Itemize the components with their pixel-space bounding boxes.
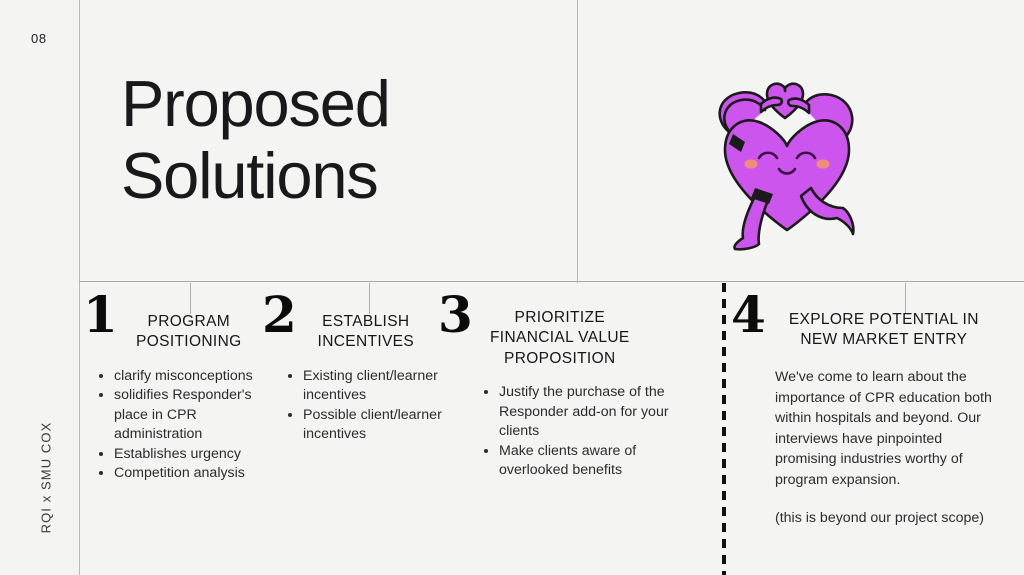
list-item: Make clients aware of overlooked benefit… [499, 442, 679, 481]
solution-column-2: 2 ESTABLISH INCENTIVES Existing client/l… [262, 296, 452, 445]
horizontal-divider-line [79, 281, 1024, 282]
column-4-header: 4 EXPLORE POTENTIAL IN NEW MARKET ENTRY [731, 296, 1013, 351]
dashed-separator-line [722, 283, 726, 575]
column-4-note: (this is beyond our project scope) [775, 508, 1000, 529]
left-blush [745, 159, 758, 168]
column-3-number: 3 [438, 292, 472, 338]
column-3-header: 3 PRIORITIZE FINANCIAL VALUE PROPOSITION [438, 296, 673, 369]
page-number: 08 [31, 31, 47, 46]
solution-column-3: 3 PRIORITIZE FINANCIAL VALUE PROPOSITION… [438, 296, 673, 481]
column-2-heading: ESTABLISH INCENTIVES [304, 312, 428, 353]
footer-vertical-label: RQI x SMU COX [39, 408, 54, 548]
column-4-number: 4 [731, 292, 765, 338]
column-1-header: 1 PROGRAM POSITIONING [83, 296, 275, 353]
list-item: Justify the purchase of the Responder ad… [499, 383, 679, 441]
column-3-heading: PRIORITIZE FINANCIAL VALUE PROPOSITION [480, 308, 640, 369]
solution-column-4: 4 EXPLORE POTENTIAL IN NEW MARKET ENTRY … [731, 296, 1013, 529]
heart-mascot-illustration [697, 72, 877, 252]
upper-vertical-divider-line [577, 0, 578, 283]
sidebar-divider-line [79, 0, 80, 575]
column-4-paragraph: We've come to learn about the importance… [775, 367, 1000, 491]
column-1-number: 1 [83, 292, 117, 338]
page-title-line-1: Proposed [121, 68, 390, 140]
column-1-heading: PROGRAM POSITIONING [125, 312, 253, 353]
solution-column-1: 1 PROGRAM POSITIONING clarify misconcept… [83, 296, 275, 484]
page-title-line-2: Solutions [121, 140, 390, 212]
slide-canvas: 08 RQI x SMU COX Proposed Solutions [0, 0, 1024, 575]
column-3-bullet-list: Justify the purchase of the Responder ad… [482, 383, 679, 480]
list-item: Competition analysis [114, 464, 282, 483]
heart-character-icon [697, 72, 877, 252]
column-1-bullet-list: clarify misconceptions solidifies Respon… [97, 367, 282, 484]
column-2-header: 2 ESTABLISH INCENTIVES [262, 296, 452, 353]
list-item: solidifies Responder's place in CPR admi… [114, 386, 282, 444]
right-blush [817, 159, 830, 168]
page-title: Proposed Solutions [121, 68, 390, 211]
column-4-heading: EXPLORE POTENTIAL IN NEW MARKET ENTRY [773, 310, 995, 351]
list-item: clarify misconceptions [114, 367, 282, 386]
column-2-number: 2 [262, 292, 296, 338]
list-item: Establishes urgency [114, 445, 282, 464]
